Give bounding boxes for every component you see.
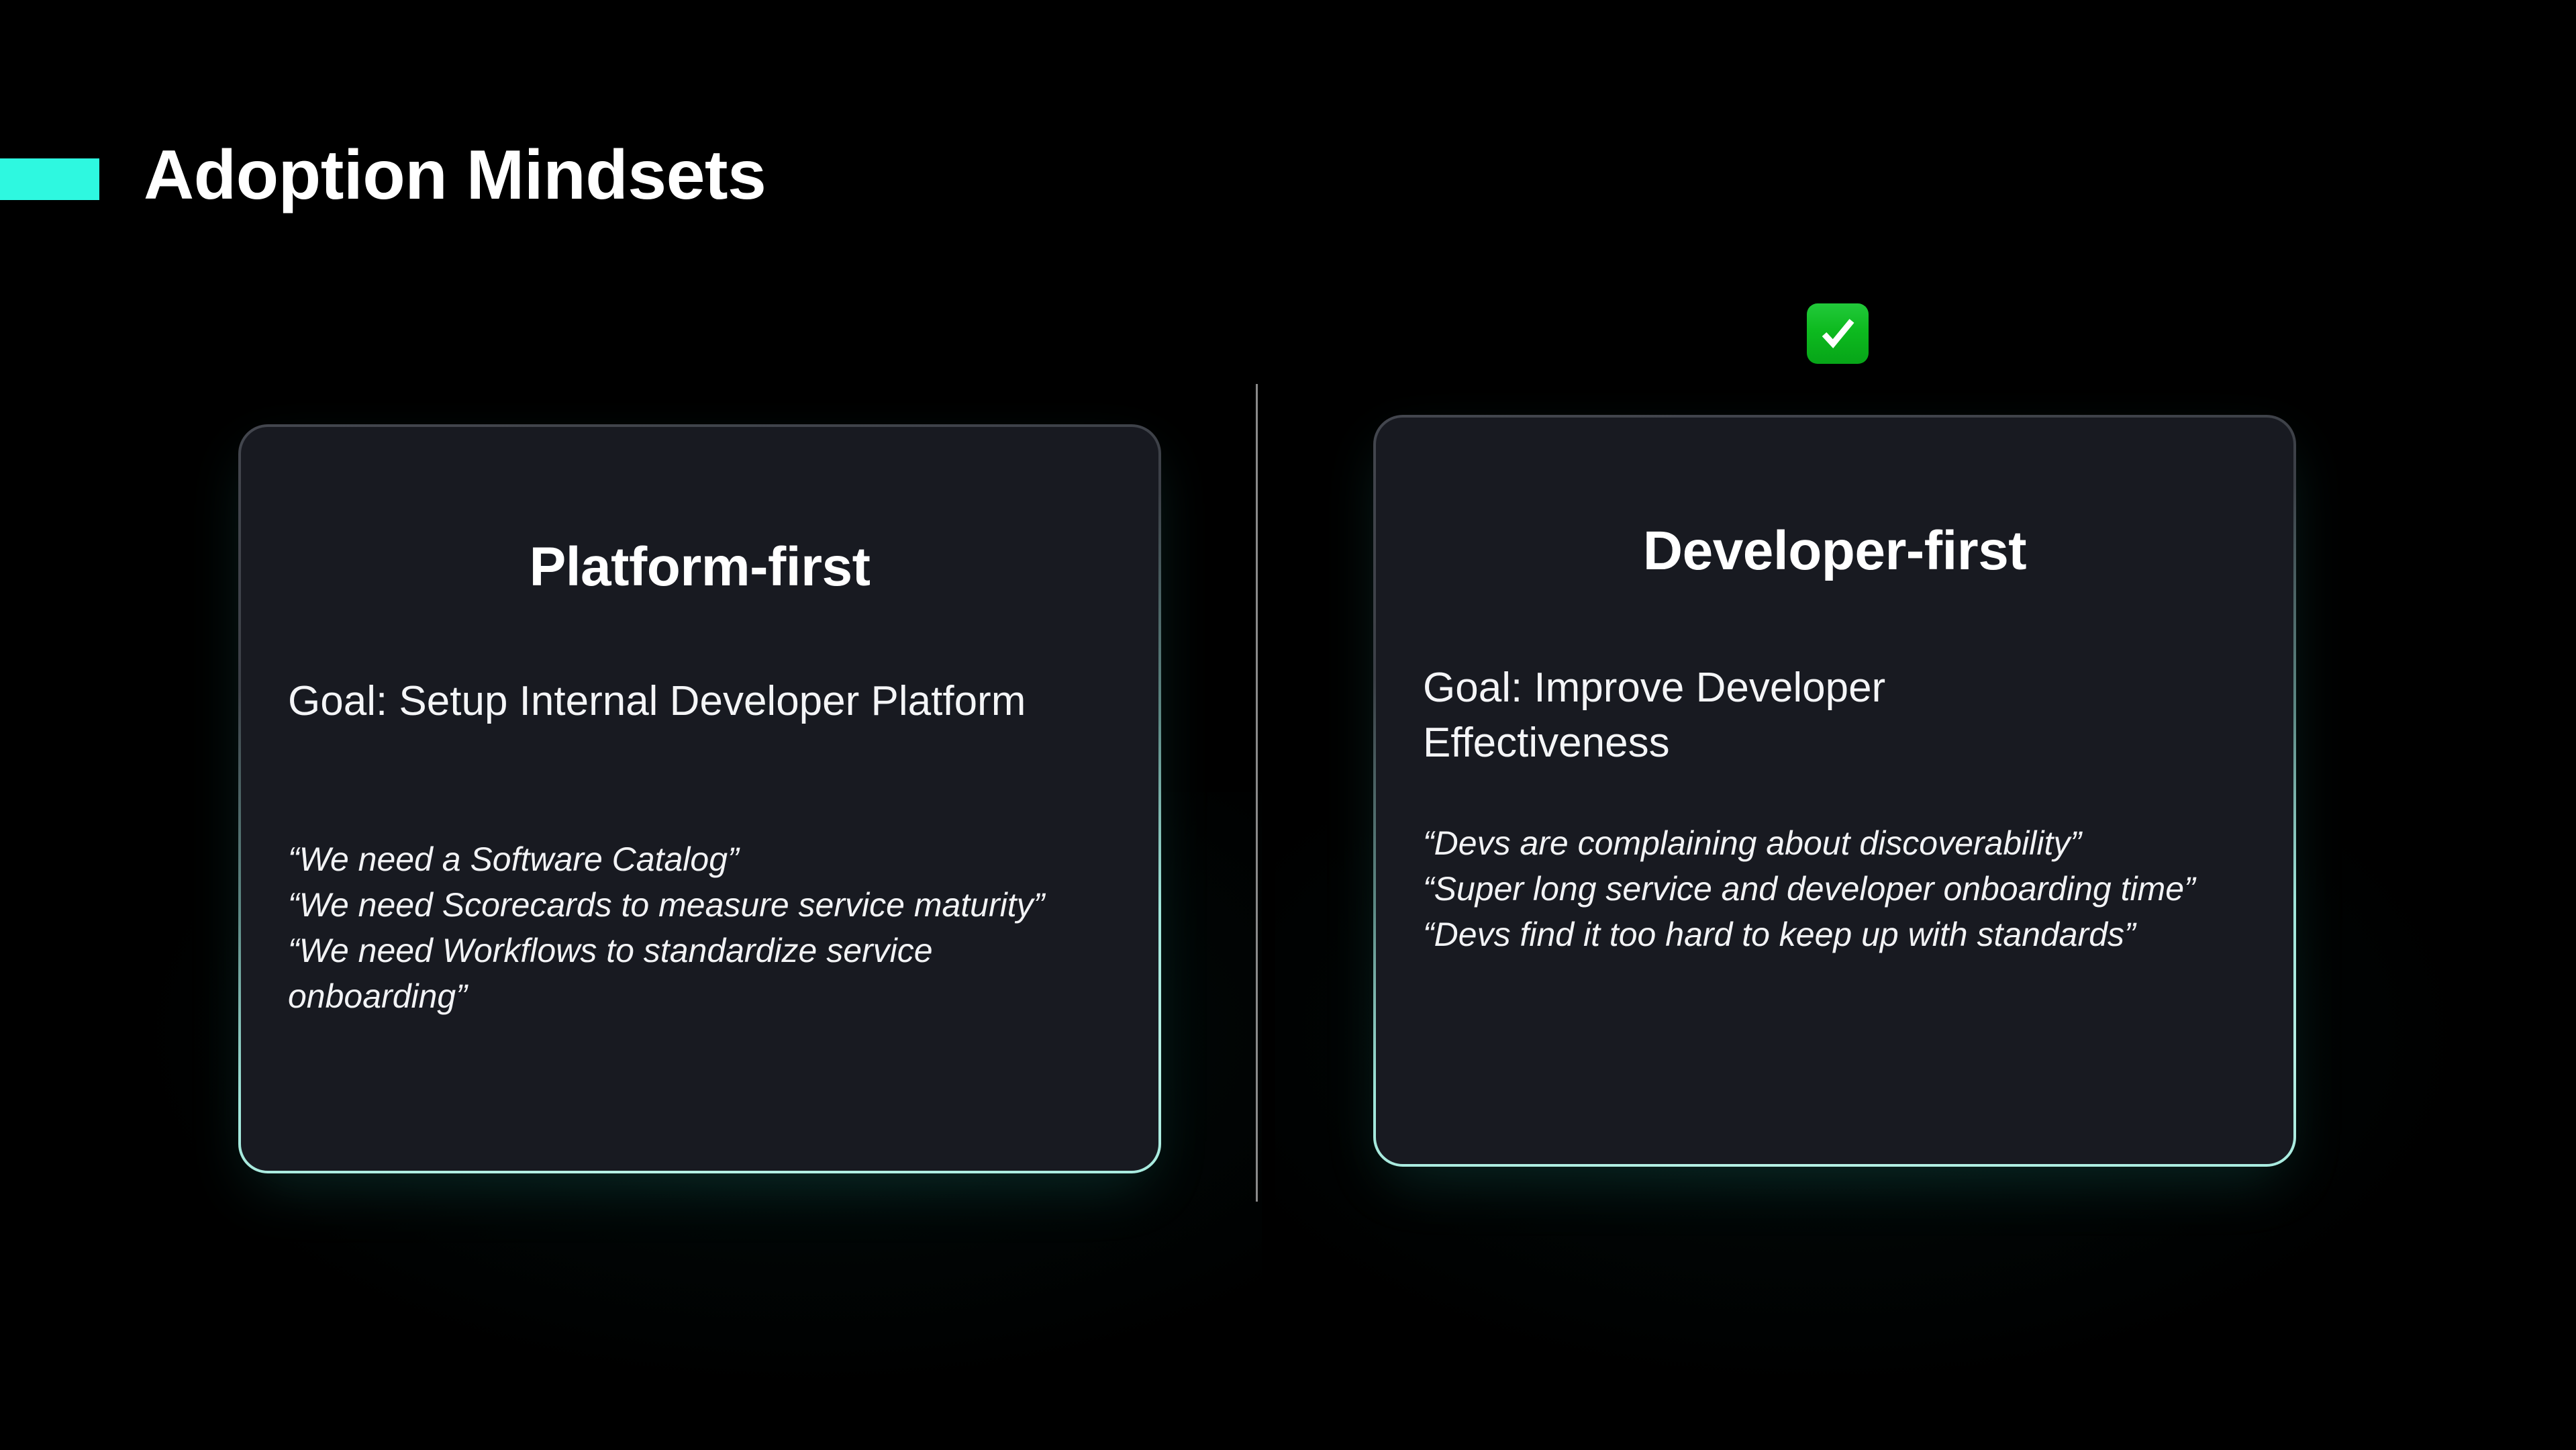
quote-line: “We need Scorecards to measure service m… bbox=[288, 882, 1087, 928]
quote-line: “Devs find it too hard to keep up with s… bbox=[1423, 912, 2255, 957]
mindset-card-platform-first: Platform-first Goal: Setup Internal Deve… bbox=[238, 424, 1161, 1173]
card-title-developer-first: Developer-first bbox=[1376, 518, 2293, 584]
card-inner: Developer-first Goal: Improve Developer … bbox=[1376, 418, 2293, 1164]
vertical-divider bbox=[1256, 384, 1258, 1202]
card-inner: Platform-first Goal: Setup Internal Deve… bbox=[241, 427, 1158, 1171]
card-quotes-developer-first: “Devs are complaining about discoverabil… bbox=[1423, 820, 2255, 957]
card-goal-developer-first: Goal: Improve Developer Effectiveness bbox=[1423, 661, 2094, 771]
quote-line: “We need a Software Catalog” bbox=[288, 836, 1087, 882]
quote-line: “Super long service and developer onboar… bbox=[1423, 866, 2255, 912]
title-accent-bar bbox=[0, 158, 99, 200]
mindset-card-developer-first: Developer-first Goal: Improve Developer … bbox=[1373, 415, 2296, 1167]
quote-line: “We need Workflows to standardize servic… bbox=[288, 928, 1087, 1019]
white-check-mark-icon bbox=[1807, 303, 1869, 364]
card-title-platform-first: Platform-first bbox=[241, 534, 1158, 600]
page-title: Adoption Mindsets bbox=[144, 132, 766, 219]
card-quotes-platform-first: “We need a Software Catalog” “We need Sc… bbox=[288, 836, 1087, 1019]
quote-line: “Devs are complaining about discoverabil… bbox=[1423, 820, 2255, 866]
card-goal-platform-first: Goal: Setup Internal Developer Platform bbox=[288, 674, 1060, 729]
